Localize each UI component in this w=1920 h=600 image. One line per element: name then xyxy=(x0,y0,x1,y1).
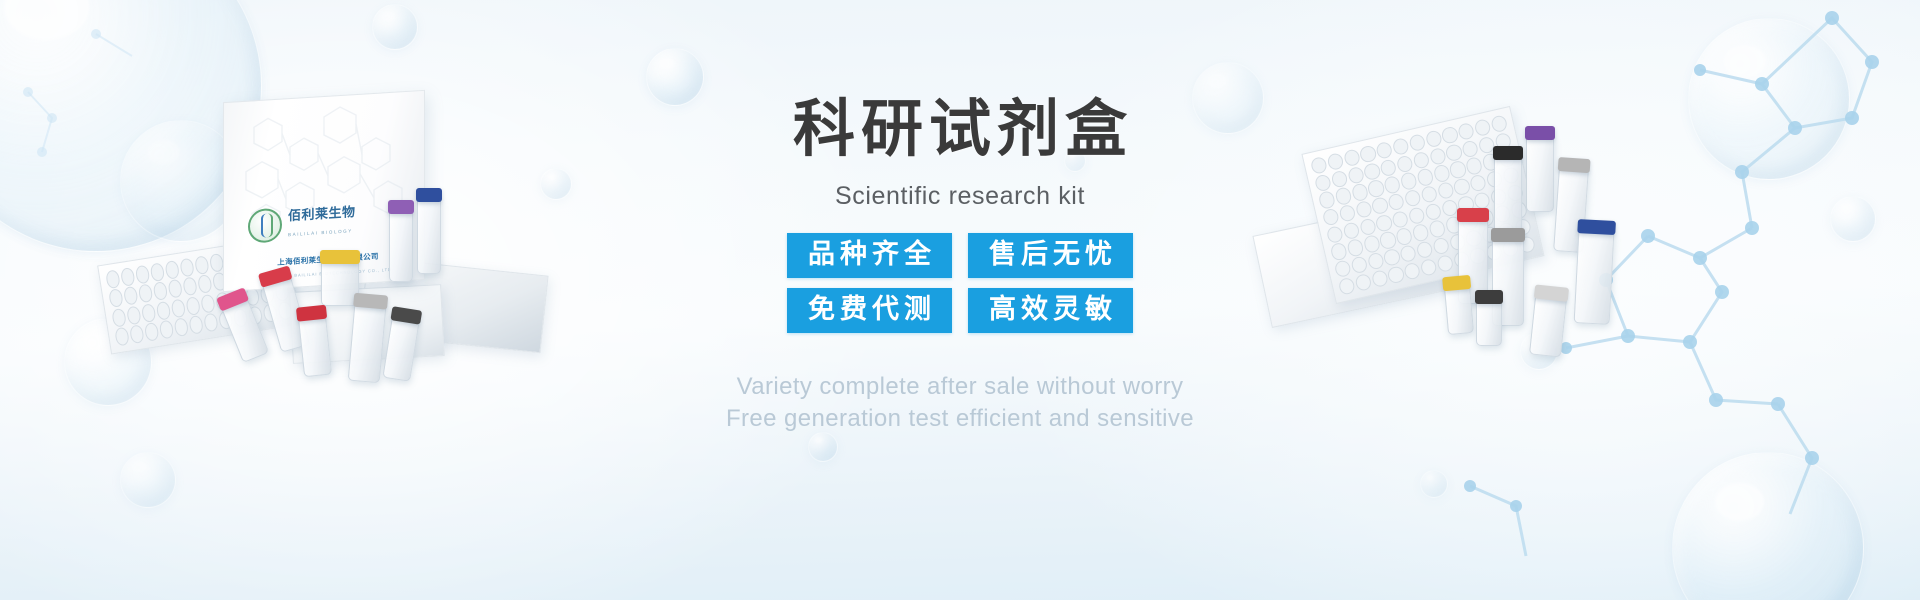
feature-badge-variety[interactable]: 品种齐全 xyxy=(787,233,952,278)
banner-tagline: Variety complete after sale without worr… xyxy=(726,371,1194,434)
feature-badge-freetest[interactable]: 免费代测 xyxy=(787,288,952,333)
feature-badge-group: 品种齐全 售后无忧 免费代测 高效灵敏 xyxy=(787,233,1133,333)
bubble-icon xyxy=(1420,470,1448,498)
bubble-icon xyxy=(372,4,418,50)
bubble-icon xyxy=(120,452,176,508)
tagline-line-2: Free generation test efficient and sensi… xyxy=(726,403,1194,435)
feature-badge-sensitive[interactable]: 高效灵敏 xyxy=(968,288,1133,333)
page-title: 科研试剂盒 xyxy=(787,98,1133,160)
banner-copy: 科研试剂盒 Scientific research kit 品种齐全 售后无忧 … xyxy=(0,98,1920,435)
bubble-icon xyxy=(808,432,838,462)
promo-banner: 佰利莱生物 BAILILAI BIOLOGY 上海佰利莱生物科技有限公司 SHA… xyxy=(0,0,1920,600)
feature-badge-aftersale[interactable]: 售后无忧 xyxy=(968,233,1133,278)
page-subtitle: Scientific research kit xyxy=(835,182,1085,211)
bubble-icon xyxy=(1672,452,1864,600)
tagline-line-1: Variety complete after sale without worr… xyxy=(726,371,1194,403)
